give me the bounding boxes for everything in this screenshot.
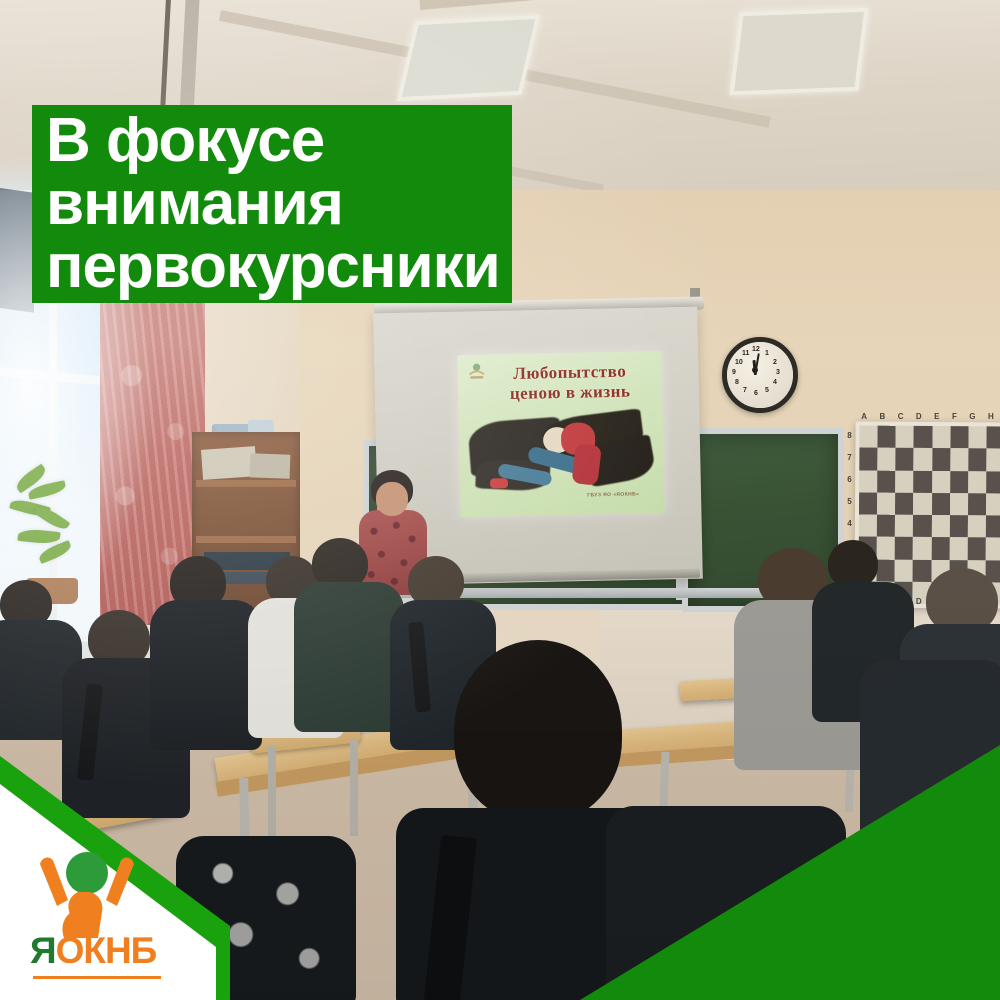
chess-label: 5 — [847, 497, 851, 506]
clock-numeral: 9 — [732, 369, 736, 376]
chess-square — [877, 537, 895, 559]
chess-label: A — [861, 412, 867, 421]
chess-square — [913, 493, 931, 515]
chess-square — [932, 426, 950, 448]
chess-square — [877, 492, 895, 514]
chess-square — [877, 448, 895, 470]
chess-square — [914, 448, 932, 470]
clock-numeral: 11 — [742, 350, 749, 357]
clock-numeral: 1 — [765, 350, 769, 357]
chess-square — [859, 448, 877, 470]
chess-square — [913, 515, 931, 537]
chess-square — [914, 470, 932, 492]
chess-label: 6 — [847, 475, 851, 484]
chess-square — [932, 471, 950, 493]
person-arms-raised-icon — [30, 846, 146, 938]
clock-center-pin — [752, 367, 758, 373]
chess-square — [950, 448, 968, 470]
chess-square — [986, 426, 1000, 448]
chess-label: G — [969, 412, 975, 421]
chess-square — [913, 537, 931, 559]
chess-label: D — [916, 412, 922, 421]
chess-square — [932, 493, 950, 515]
chess-square — [913, 559, 931, 581]
clock-face — [727, 342, 793, 408]
chess-square — [895, 515, 913, 537]
chess-square — [950, 493, 968, 515]
chess-square — [931, 515, 949, 537]
chess-square — [859, 425, 877, 447]
logo-acronym-rest: ОКНБ — [56, 930, 157, 971]
chess-square — [877, 559, 895, 581]
clock-numeral: 8 — [735, 379, 739, 386]
chair-leg — [268, 746, 276, 836]
chess-label: 7 — [847, 453, 851, 462]
chess-square — [986, 449, 1000, 471]
chess-square — [986, 471, 1000, 493]
chess-square — [986, 493, 1000, 515]
chess-square — [877, 515, 895, 537]
chess-label: 4 — [847, 519, 851, 528]
title-banner: В фокусе внимания первокурсники — [32, 105, 512, 303]
clock-numeral: 3 — [776, 369, 780, 376]
clock-numeral: 12 — [752, 346, 760, 353]
chess-square — [968, 515, 986, 537]
logo-acronym-first-letter: Я — [30, 930, 56, 971]
chess-label: D — [916, 597, 922, 606]
chess-square — [968, 471, 986, 493]
chess-square — [877, 470, 895, 492]
chess-square — [895, 559, 913, 581]
chess-square — [968, 426, 986, 448]
chess-square — [931, 537, 949, 559]
clock-numeral: 2 — [773, 359, 777, 366]
chess-label: C — [898, 412, 904, 421]
clock-numeral: 10 — [735, 359, 743, 366]
title-line-3: первокурсники — [46, 235, 500, 298]
chess-label: H — [988, 412, 994, 421]
chess-square — [950, 426, 968, 448]
chess-square — [968, 493, 986, 515]
chess-square — [949, 537, 967, 559]
chess-square — [896, 426, 914, 448]
wall-clock: 12 1 2 3 4 5 6 7 8 9 10 11 — [722, 337, 798, 413]
chair-leg — [350, 740, 358, 836]
ceiling-light-panel — [730, 8, 869, 95]
ceiling-beam — [420, 0, 889, 10]
chess-square — [859, 514, 877, 536]
projected-slide: Любопытство ценою в жизнь ГБУЗ ЯО «ЯОКНБ… — [457, 351, 664, 517]
chess-square — [914, 426, 932, 448]
chess-square — [986, 515, 1000, 537]
logo-underline — [33, 976, 161, 979]
title-line-1: В фокусе — [46, 109, 500, 172]
presenter-face — [376, 482, 408, 516]
chess-square — [967, 538, 985, 560]
chess-square — [968, 449, 986, 471]
chess-label: F — [952, 412, 957, 421]
chess-square — [878, 426, 896, 448]
curtain-valance — [0, 187, 34, 313]
slide-title: Любопытство ценою в жизнь — [484, 361, 657, 405]
chess-square — [895, 470, 913, 492]
chess-label: E — [934, 412, 939, 421]
potted-plant — [8, 468, 98, 598]
title-line-2: внимания — [46, 172, 500, 235]
chess-square — [895, 537, 913, 559]
clock-numeral: 6 — [754, 390, 758, 397]
clock-numeral: 5 — [765, 387, 769, 394]
clock-numeral: 7 — [743, 387, 747, 394]
chess-square — [859, 492, 877, 514]
logo-acronym: ЯОКНБ — [30, 932, 180, 976]
clock-numeral: 4 — [773, 379, 777, 386]
chess-square — [896, 448, 914, 470]
chess-label: B — [879, 412, 885, 421]
slide-title-line2: ценою в жизнь — [484, 381, 656, 405]
chess-square — [932, 448, 950, 470]
chess-square — [986, 538, 1000, 560]
chess-square — [949, 515, 967, 537]
poster-canvas: 12 1 2 3 4 5 6 7 8 9 10 11 A B C D E F G… — [0, 0, 1000, 1000]
chess-label: 8 — [847, 431, 851, 440]
chess-square — [859, 470, 877, 492]
chess-square — [950, 471, 968, 493]
chess-square — [895, 492, 913, 514]
ceiling-light-panel — [397, 15, 540, 101]
ceiling-cable — [160, 0, 171, 115]
